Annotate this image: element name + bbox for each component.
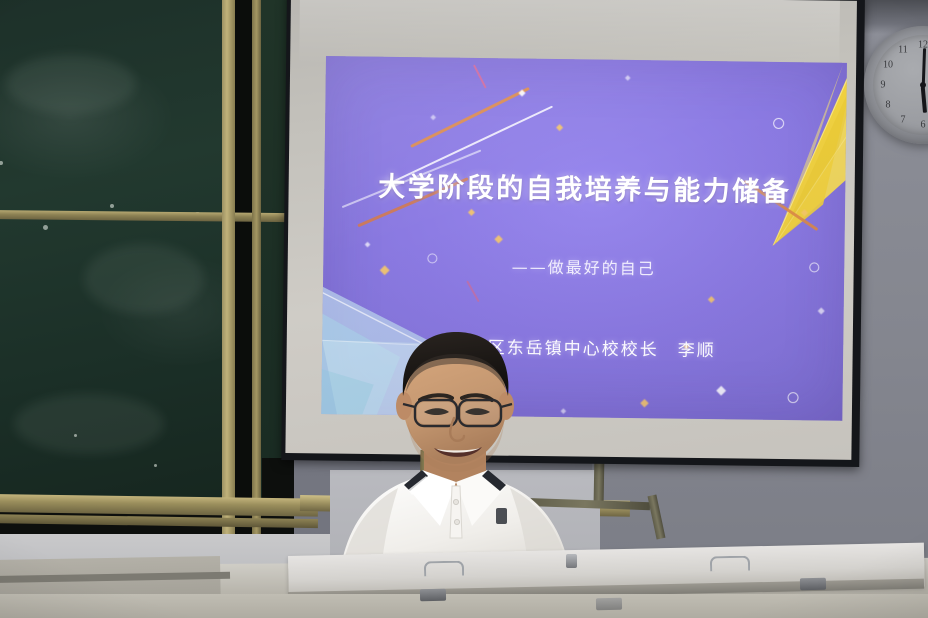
desk-handle-right[interactable]: [710, 556, 750, 572]
circle-outline-icon: [773, 118, 784, 129]
sparkle-icon: [625, 75, 631, 81]
circle-outline-icon: [787, 392, 798, 403]
clock-center-pin: [920, 82, 926, 88]
desk-handle-left[interactable]: [424, 561, 464, 577]
sparkle-icon: [818, 307, 825, 314]
clock-numeral: 9: [881, 80, 886, 91]
desk-front-panel: [0, 594, 928, 618]
chalkboard-vertical-rail-secondary: [252, 0, 261, 536]
sparkle-icon: [468, 209, 475, 216]
chalk-tray: [0, 494, 318, 517]
chalkboard-seam: [235, 0, 253, 536]
desk-hinge-right: [800, 578, 826, 590]
clock-face: 12 1 2 3 4 5 6 7 8 9 10 11: [873, 35, 928, 135]
chalkboard-frame: [0, 0, 294, 534]
desk-hinge-left: [420, 589, 446, 601]
clock-numeral: 7: [901, 115, 906, 126]
clock-numeral: 8: [886, 100, 891, 111]
clock-numeral: 11: [898, 45, 908, 56]
slide-title: 大学阶段的自我培养与能力储备: [324, 164, 845, 210]
chalkboard-vertical-rail: [222, 0, 235, 536]
pink-diagonal-line: [473, 64, 487, 88]
desk-latch-knob[interactable]: [566, 554, 577, 568]
clock-numeral: 6: [921, 120, 926, 131]
clock-minute-hand: [922, 48, 926, 86]
desk-hinge-center: [596, 598, 622, 610]
sparkle-icon: [430, 115, 436, 121]
chalk-tray-lip: [0, 514, 318, 528]
sparkle-icon: [556, 124, 563, 131]
clock-numeral: 10: [883, 60, 893, 71]
clock-hour-hand: [921, 87, 927, 113]
classroom-photo-scene: 大学阶段的自我培养与能力储备 ——做最好的自己 通川区东岳镇中心校校长 李顺 1…: [0, 0, 928, 618]
sparkle-icon: [494, 235, 502, 243]
sparkle-icon: [716, 386, 726, 396]
sparkle-icon: [708, 296, 715, 303]
orange-diagonal-line-1: [410, 87, 530, 148]
